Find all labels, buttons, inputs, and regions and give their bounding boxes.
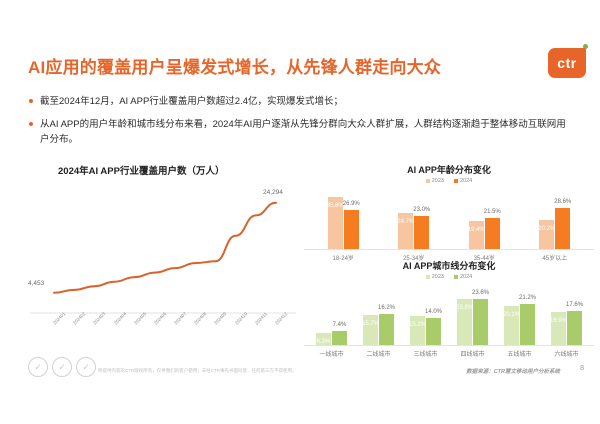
bar-value-label: 24.7% [397, 219, 414, 225]
bar-value-label: 16.2% [378, 305, 395, 311]
city-chart-title: AI APP城市线分布变化 [304, 259, 594, 272]
city-chart-plot: 6.3%7.4%15.7%16.2%15.2%14.0%23.8%23.6%20… [304, 283, 594, 346]
bar: 26.9% [344, 210, 359, 249]
city-chart-legend: 20232024 [304, 274, 594, 280]
bar: 23.0% [414, 216, 429, 249]
bar-group: 35.8%26.9% [328, 187, 359, 249]
line-chart-svg [26, 181, 298, 321]
bar-group: 6.3%7.4% [316, 283, 347, 345]
bar: 23.6% [473, 299, 488, 345]
line-end-value: 24,294 [263, 189, 283, 196]
age-chart-title: AI APP年龄分布变化 [304, 163, 594, 176]
bar: 23.8% [457, 299, 472, 345]
bar-value-label: 35.8% [327, 203, 344, 209]
bar-group: 16.9%17.6% [551, 283, 582, 345]
bullet-item: 截至2024年12月，AI APP行业覆盖用户数超过2.4亿，实现爆发式增长； [28, 94, 573, 109]
slide-canvas: AI应用的覆盖用户呈爆发式增长，从先锋人群走向大众 ctr 截至2024年12月… [0, 0, 600, 424]
bar-group: 20.1%21.2% [504, 283, 535, 345]
page-number: 8 [580, 365, 584, 372]
line-chart-xaxis: 2024012024022024032024042024052024062024… [28, 321, 301, 351]
bar-value-label: 7.4% [333, 322, 347, 328]
bar-value-label: 6.3% [317, 339, 331, 345]
bar: 17.6% [567, 311, 582, 345]
legend-item: 2024 [454, 274, 472, 280]
category-label: 二线城市 [362, 349, 396, 358]
bar-group: 15.2%14.0% [410, 283, 441, 345]
bar-value-label: 16.9% [550, 318, 567, 324]
bar-chart-age-distribution: AI APP年龄分布变化 20232024 35.8%26.9%24.7%23.… [304, 163, 594, 255]
category-label: 一线城市 [315, 349, 349, 358]
bar: 20.2% [539, 220, 554, 249]
bar-value-label: 26.9% [343, 201, 360, 207]
bar-value-label: 23.6% [472, 290, 489, 296]
bullet-list: 截至2024年12月，AI APP行业覆盖用户数超过2.4亿，实现爆发式增长； … [28, 94, 573, 155]
bar: 16.2% [379, 314, 394, 345]
bar-value-label: 15.7% [362, 321, 379, 327]
bar: 15.2% [410, 316, 425, 345]
legend-swatch [454, 275, 458, 279]
bar-value-label: 23.0% [413, 207, 430, 213]
bar-group: 19.4%21.5% [469, 187, 500, 249]
bar-chart-city-tier-distribution: AI APP城市线分布变化 20232024 6.3%7.4%15.7%16.2… [304, 259, 594, 351]
bullet-item: 从AI APP的用户年龄和城市线分布来看，2024年AI用户逐渐从先锋分群向大众… [28, 117, 573, 147]
bar-value-label: 17.6% [566, 302, 583, 308]
legend-label: 2024 [460, 274, 472, 280]
bar-group: 23.8%23.6% [457, 283, 488, 345]
bar-group: 24.7%23.0% [398, 187, 429, 249]
line-chart-coverage-users: 2024年AI APP行业覆盖用户数（万人） 4,453 24,294 2024… [26, 163, 301, 353]
page-title: AI应用的覆盖用户呈爆发式增长，从先锋人群走向大众 [28, 53, 441, 78]
footer-data-source: 数据来源：CTR慧文移动用户分析系统 [466, 367, 560, 375]
bar-value-label: 19.4% [468, 227, 485, 233]
bar-value-label: 20.1% [503, 312, 520, 318]
legend-swatch [454, 179, 458, 183]
footer-seals: ✓ ✓ ✓ [28, 357, 96, 377]
bar: 7.4% [332, 331, 347, 345]
city-chart-xaxis: 一线城市二线城市三线城市四线城市五线城市六线城市 [304, 349, 594, 358]
bar-group: 15.7%16.2% [363, 283, 394, 345]
bar-value-label: 15.2% [409, 322, 426, 328]
legend-item: 2023 [426, 274, 444, 280]
check-seal-icon: ✓ [52, 357, 72, 377]
category-label: 五线城市 [503, 349, 537, 358]
bar-value-label: 21.5% [484, 209, 501, 215]
legend-label: 2023 [432, 178, 444, 184]
line-start-value: 4,453 [28, 280, 44, 287]
check-seal-icon: ✓ [28, 357, 48, 377]
age-chart-legend: 20232024 [304, 178, 594, 184]
legend-label: 2023 [432, 274, 444, 280]
bar-value-label: 20.2% [538, 226, 555, 232]
category-label: 三线城市 [409, 349, 443, 358]
footer-disclaimer: 所提供内容的CTR版权所有，仅供我们的客户使用；未经CTR事先书面同意，任何第三… [98, 368, 297, 374]
bar: 28.6% [555, 208, 570, 249]
age-chart-plot: 35.8%26.9%24.7%23.0%19.4%21.5%20.2%28.6% [304, 187, 594, 250]
bar: 19.4% [469, 221, 484, 249]
bar-value-label: 14.0% [425, 309, 442, 315]
bar: 16.9% [551, 312, 566, 345]
bar: 14.0% [426, 318, 441, 345]
category-label: 六线城市 [550, 349, 584, 358]
bar: 15.7% [363, 315, 378, 345]
bar: 21.2% [520, 304, 535, 345]
bar: 20.1% [504, 306, 519, 345]
bar-value-label: 28.6% [554, 199, 571, 205]
bar-group: 20.2%28.6% [539, 187, 570, 249]
category-label: 四线城市 [456, 349, 490, 358]
bar-value-label: 21.2% [519, 295, 536, 301]
check-seal-icon: ✓ [76, 357, 96, 377]
legend-label: 2024 [460, 178, 472, 184]
legend-item: 2023 [426, 178, 444, 184]
ctr-logo: ctr [548, 48, 586, 78]
legend-swatch [426, 275, 430, 279]
bar: 24.7% [398, 213, 413, 249]
legend-item: 2024 [454, 178, 472, 184]
line-chart-title: 2024年AI APP行业覆盖用户数（万人） [58, 163, 301, 177]
legend-swatch [426, 179, 430, 183]
bar: 35.8% [328, 197, 343, 249]
bar: 21.5% [485, 218, 500, 249]
bar: 6.3% [316, 333, 331, 345]
bar-value-label: 23.8% [456, 305, 473, 311]
